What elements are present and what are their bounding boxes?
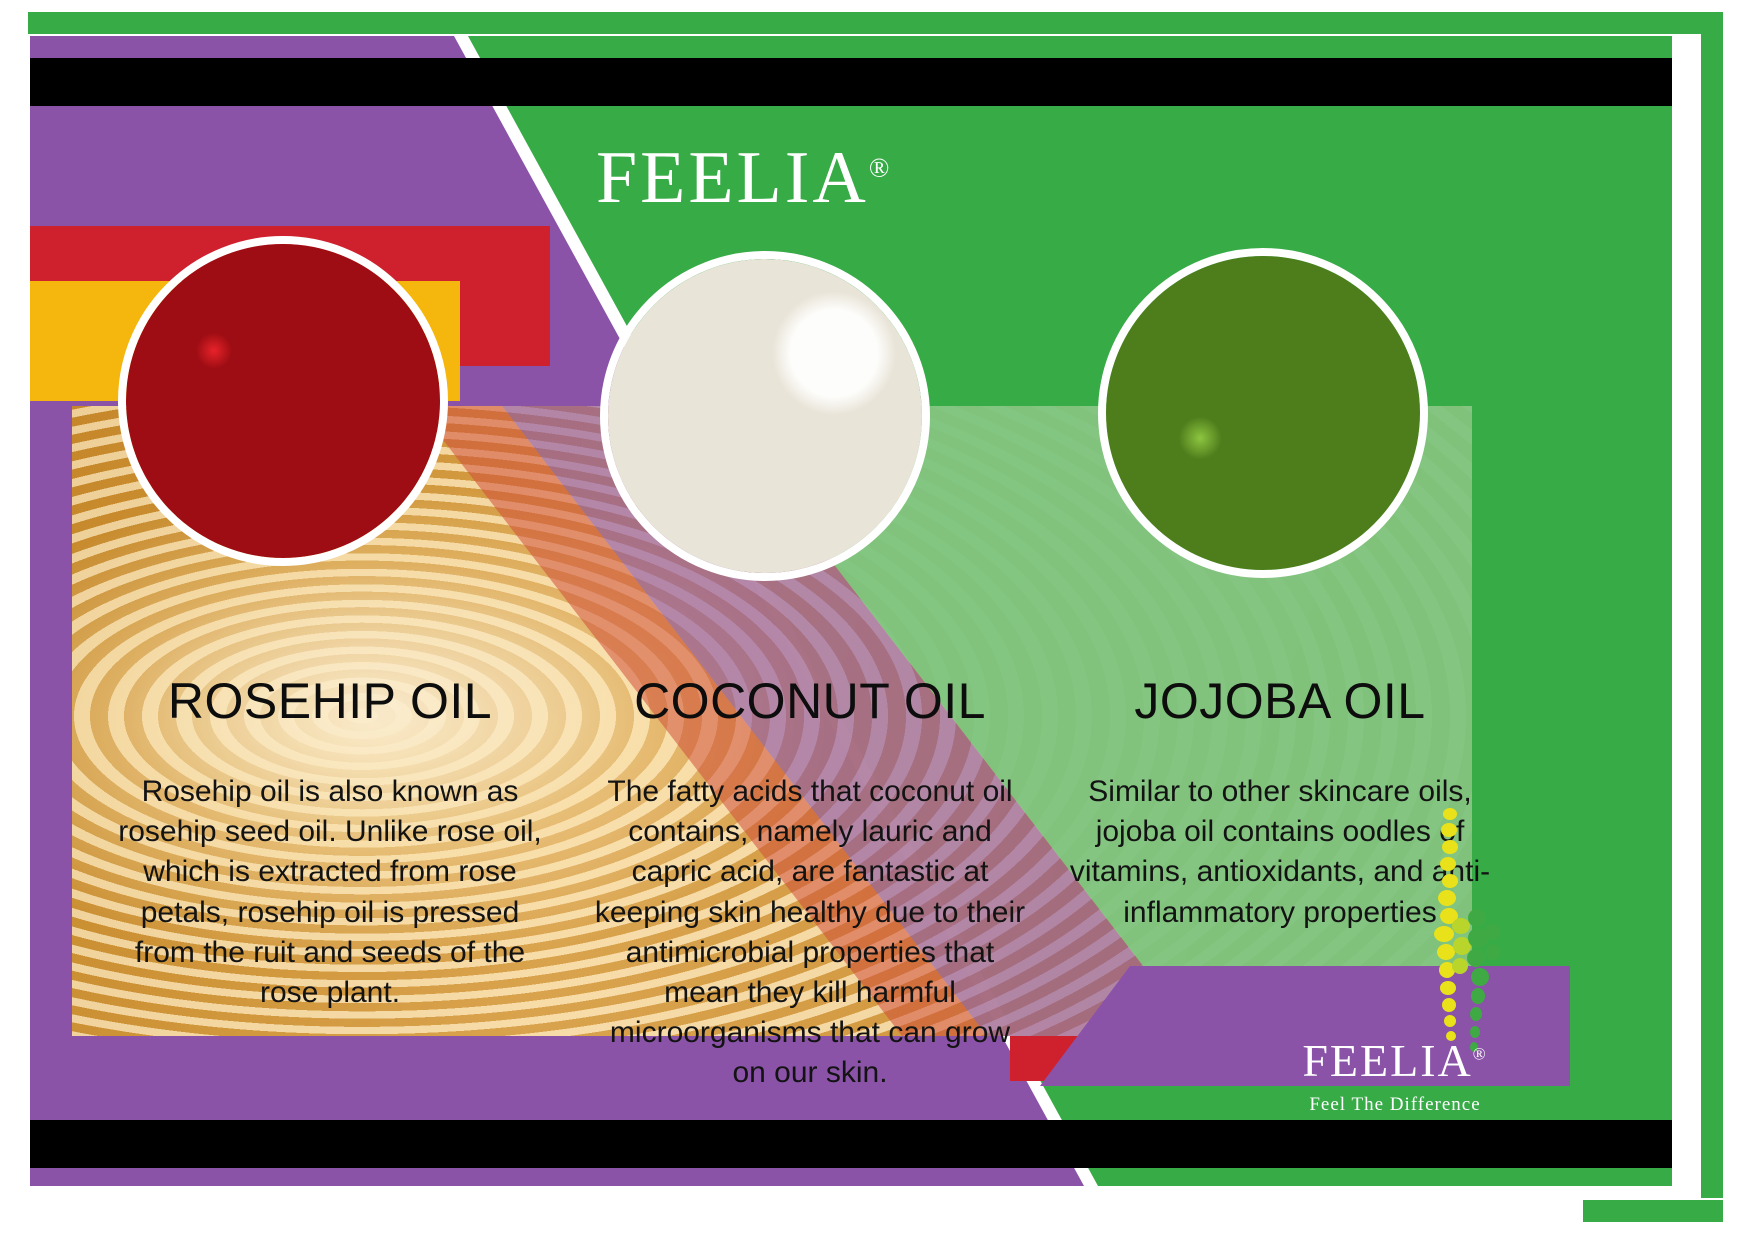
footer-registered-trademark-icon: ® (1473, 1045, 1488, 1064)
black-bar-top (30, 58, 1672, 106)
black-bar-bottom (30, 1120, 1672, 1168)
frame-strip-bottom-right (1583, 1200, 1723, 1222)
rosehip-title: ROSEHIP OIL (110, 676, 550, 726)
coconut-icon (608, 259, 922, 573)
column-coconut: COCONUT OIL The fatty acids that coconut… (590, 676, 1030, 1094)
frame-strip-right (1701, 12, 1723, 1198)
jojoba-fruit-icon (1106, 256, 1420, 570)
frame-strip-top (28, 12, 1706, 34)
footer-tagline: Feel The Difference (1280, 1094, 1510, 1116)
column-rosehip: ROSEHIP OIL Rosehip oil is also known as… (110, 676, 550, 1013)
footer-brand-logo: FEELIA® (1280, 1038, 1510, 1084)
registered-trademark-icon: ® (869, 152, 890, 182)
coconut-photo-circle (600, 251, 930, 581)
coconut-title: COCONUT OIL (590, 676, 1030, 726)
footer-brand-lockup: FEELIA® Feel The Difference (1280, 1038, 1510, 1116)
header-brand-logo: FEELIA® (596, 136, 889, 221)
header-brand-name: FEELIA (596, 137, 869, 219)
rosehip-description: Rosehip oil is also known as rosehip see… (110, 772, 550, 1013)
poster-body: FEELIA® ROSEHIP OIL Rosehip oil is also … (30, 36, 1672, 1186)
poster-canvas: FEELIA® ROSEHIP OIL Rosehip oil is also … (0, 0, 1745, 1240)
jojoba-title: JOJOBA OIL (1060, 676, 1500, 726)
footer-brand-name: FEELIA (1302, 1035, 1472, 1086)
giraffe-logo-icon (1420, 806, 1530, 1056)
rosehip-photo-circle (118, 236, 448, 566)
jojoba-photo-circle (1098, 248, 1428, 578)
rosehip-berries-icon (126, 244, 440, 558)
coconut-description: The fatty acids that coconut oil contain… (590, 772, 1030, 1094)
